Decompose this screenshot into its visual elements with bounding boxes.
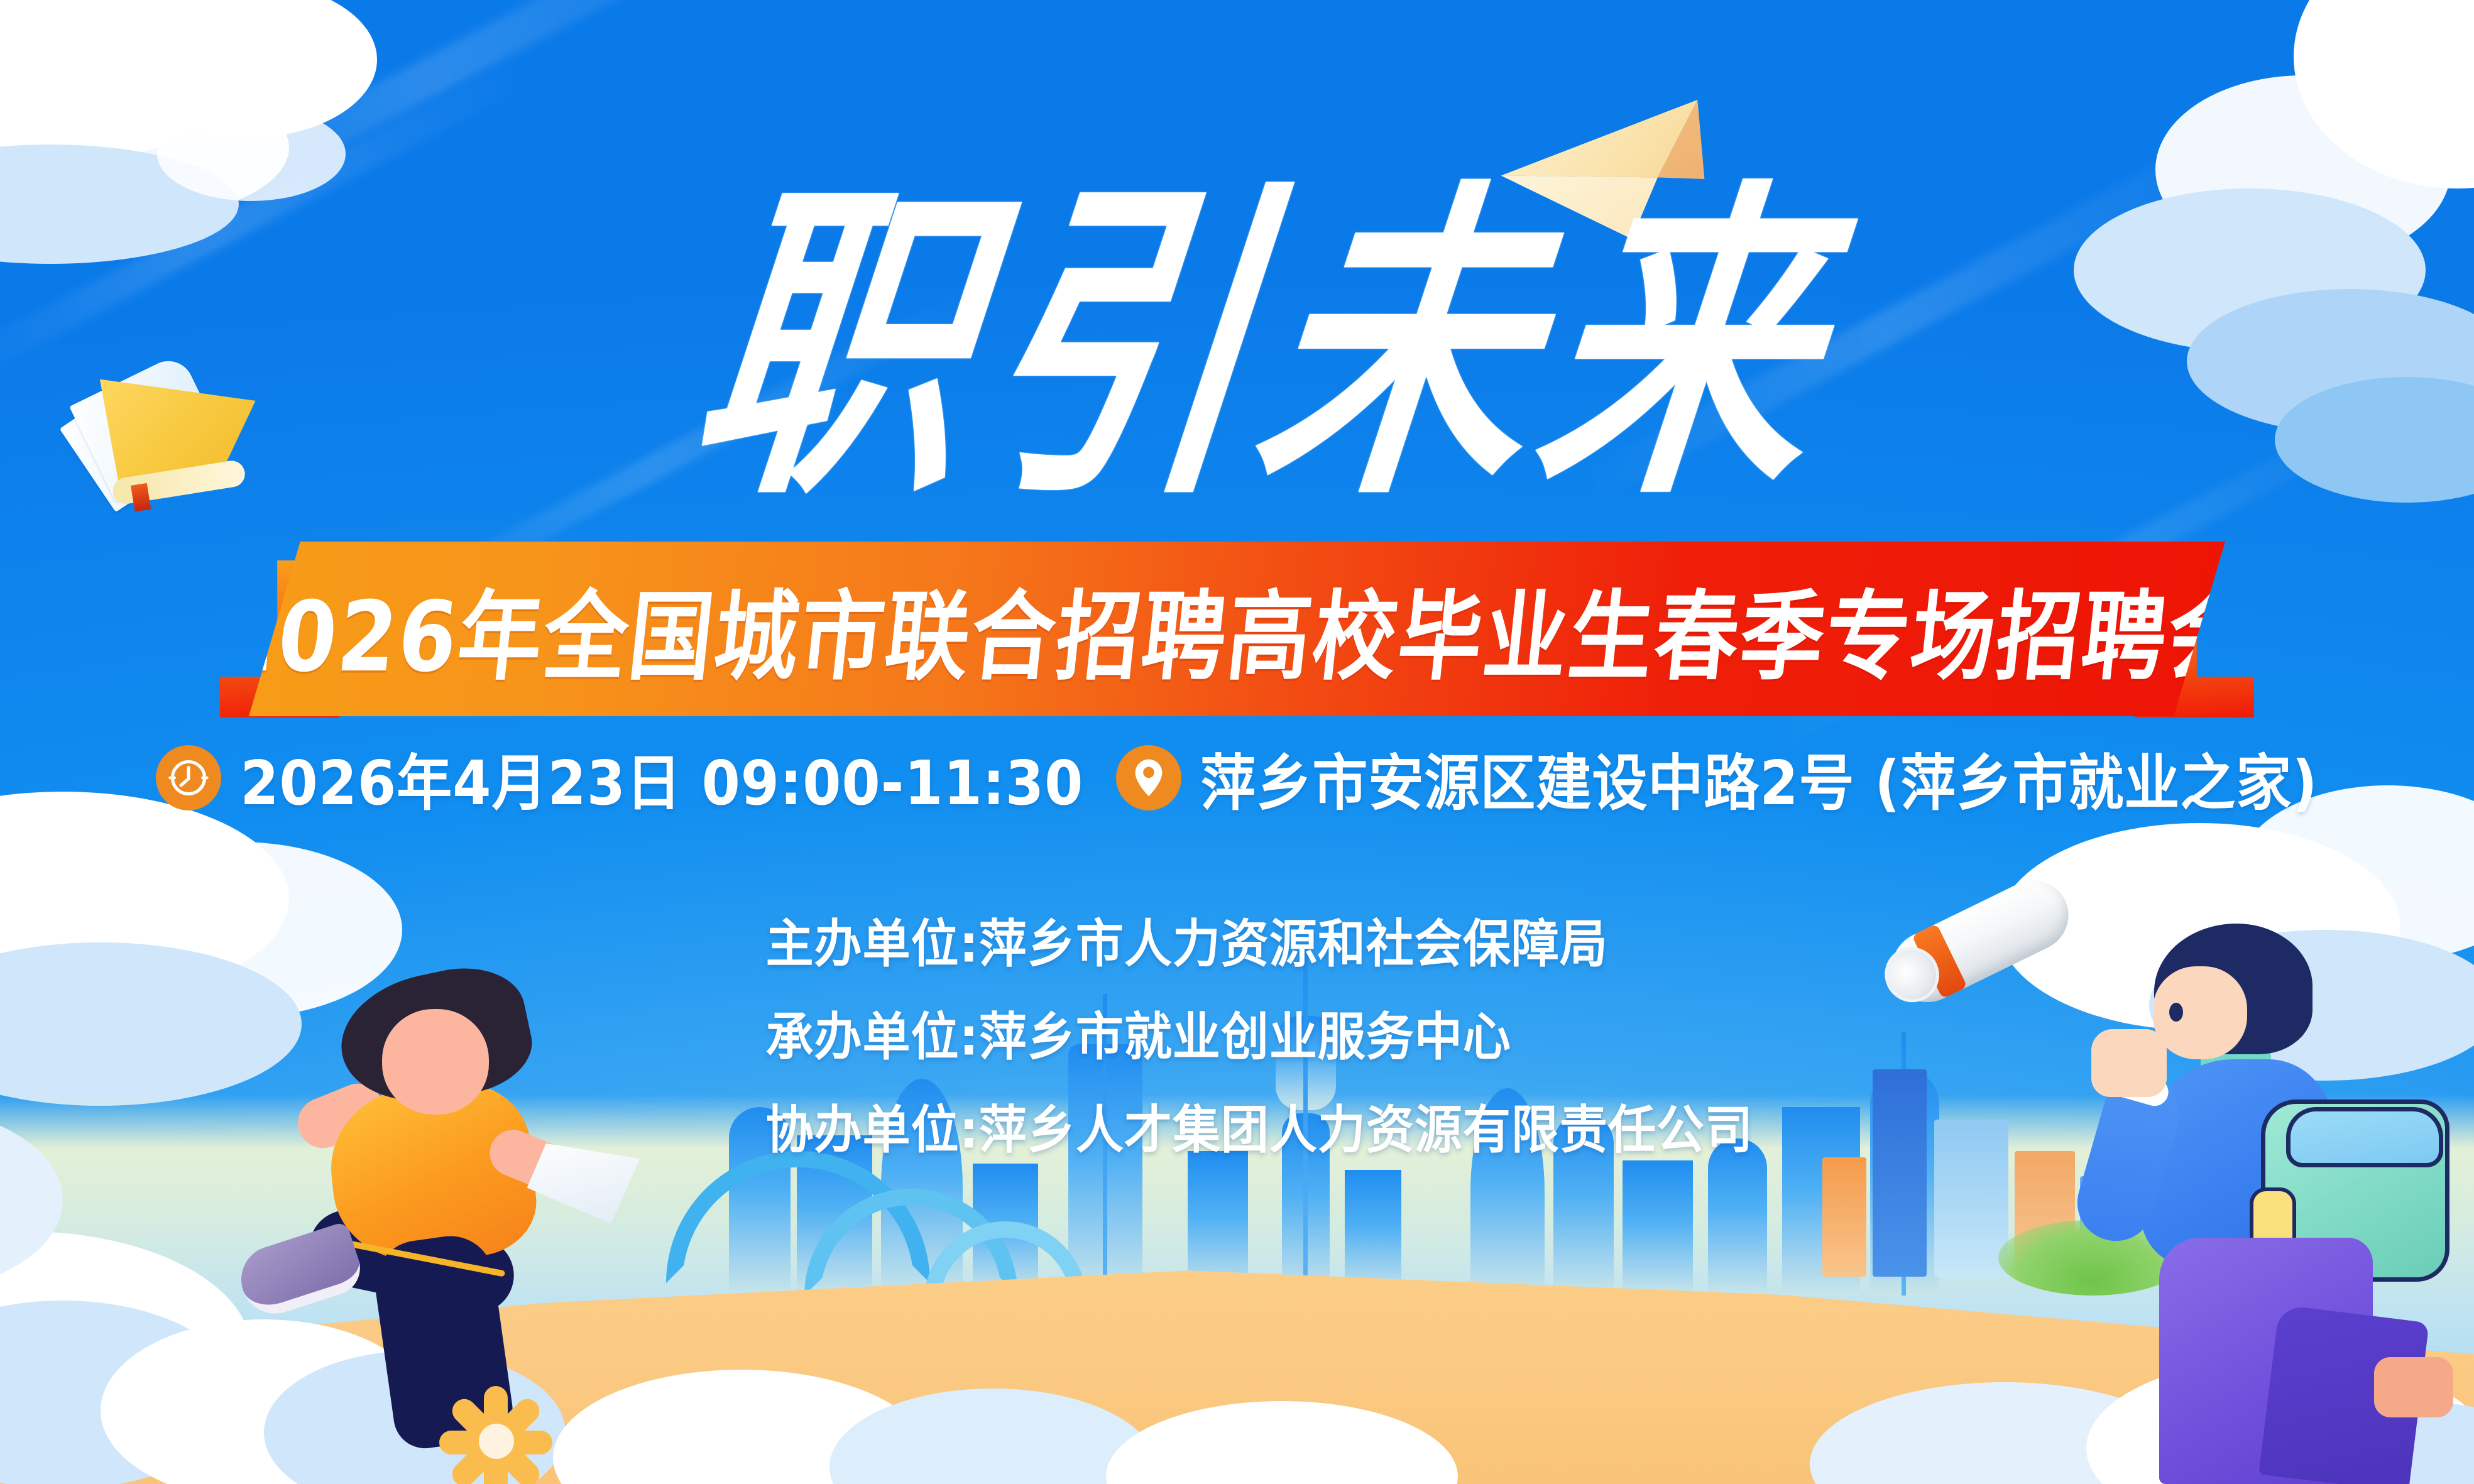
raised-fist-icon [2091, 1029, 2167, 1097]
banner-ribbon: 2026年全国城市联合招聘高校毕业生春季专场招聘会 [0, 542, 2474, 736]
organizer-row: 承办单位: 萍乡市就业创业服务中心 [766, 995, 1709, 1070]
organizer-label: 主办单位: [766, 902, 979, 977]
organizer-value: 萍乡市人力资源和社会保障局 [979, 902, 1709, 977]
organizer-row: 协办单位: 萍乡人才集团人力资源有限责任公司 [766, 1088, 1709, 1163]
organizer-row: 主办单位: 萍乡市人力资源和社会保障局 [766, 902, 1709, 977]
organizer-value: 萍乡市就业创业服务中心 [979, 995, 1709, 1070]
running-graduate-figure [182, 968, 572, 1458]
organizer-value: 萍乡人才集团人力资源有限责任公司 [979, 1088, 1753, 1163]
student-with-backpack-figure [2061, 924, 2474, 1484]
organizer-label: 承办单位: [766, 995, 979, 1070]
poster-canvas: 职引未来 2026年全国城市联合招聘高校毕业生春季专场招聘会 2026年4月23… [0, 0, 2474, 1484]
location-pin-icon [1116, 745, 1181, 810]
main-title-text: 职引未来 [680, 181, 1846, 511]
flower-icon [436, 1382, 556, 1484]
event-meta-row: 2026年4月23日 09:00-11:30 萍乡市安源区建设中路2号 (萍乡市… [0, 734, 2474, 822]
city-block [1822, 1157, 1866, 1277]
event-location-text: 萍乡市安源区建设中路2号 (萍乡市就业之家) [1200, 734, 2318, 822]
banner-title-text: 2026年全国城市联合招聘高校毕业生春季专场招聘会 [212, 559, 2262, 699]
event-time-text: 2026年4月23日 09:00-11:30 [240, 734, 1083, 822]
main-title: 职引未来 [641, 157, 1885, 534]
event-location: 萍乡市安源区建设中路2号 (萍乡市就业之家) [1116, 738, 2318, 818]
ribbon-body: 2026年全国城市联合招聘高校毕业生春季专场招聘会 [249, 542, 2225, 716]
organizer-label: 协办单位: [766, 1088, 979, 1163]
event-time: 2026年4月23日 09:00-11:30 [156, 738, 1083, 818]
clock-icon [156, 745, 221, 810]
